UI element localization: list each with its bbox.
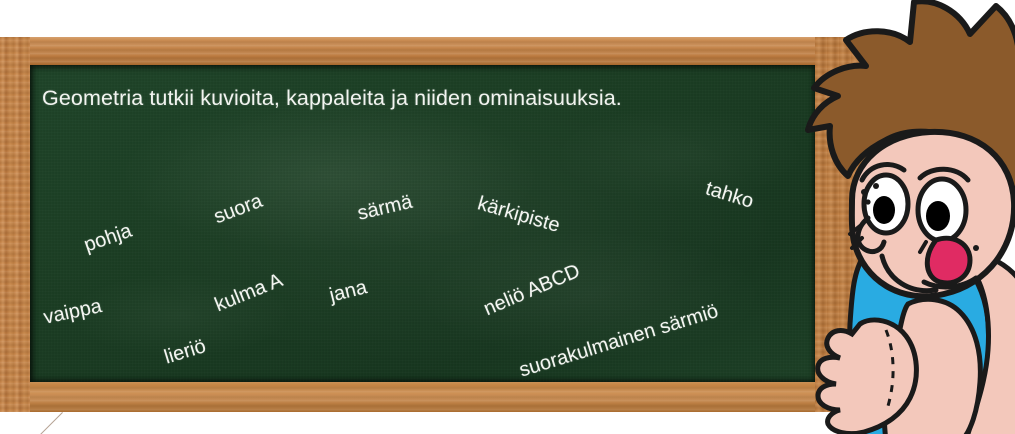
chalk-word: särmä — [355, 191, 414, 226]
chalk-word: lieriö — [162, 335, 209, 369]
frame-rail-left — [0, 37, 30, 412]
chalk-word: kärkipiste — [475, 192, 563, 237]
boy-eye-right — [918, 169, 968, 258]
chalk-word: jana — [327, 276, 369, 307]
chalk-word: kulma A — [212, 269, 287, 317]
boy-mouth — [882, 238, 976, 290]
chalkboard-surface: Geometria tutkii kuvioita, kappaleita ja… — [30, 65, 815, 382]
chalk-word: suorakulmainen särmiö — [517, 300, 721, 382]
boy-ear — [988, 186, 1015, 228]
frame-rail-right — [815, 37, 882, 412]
page-title: Geometria tutkii kuvioita, kappaleita ja… — [42, 86, 622, 111]
chalk-word: vaippa — [42, 295, 104, 330]
chalk-word: neliö ABCD — [481, 260, 584, 321]
boy-left-arm — [884, 299, 980, 434]
boy-right-arm — [940, 251, 1015, 434]
frame-rail-bottom — [0, 382, 882, 412]
frame-rail-top — [0, 37, 882, 65]
chalk-word: tahko — [703, 178, 757, 214]
boy-shirt-sleeve-seam — [970, 272, 988, 334]
chalkboard-scene: Geometria tutkii kuvioita, kappaleita ja… — [0, 0, 1015, 434]
chalk-word: suora — [211, 190, 266, 229]
chalk-word: pohja — [81, 220, 135, 258]
